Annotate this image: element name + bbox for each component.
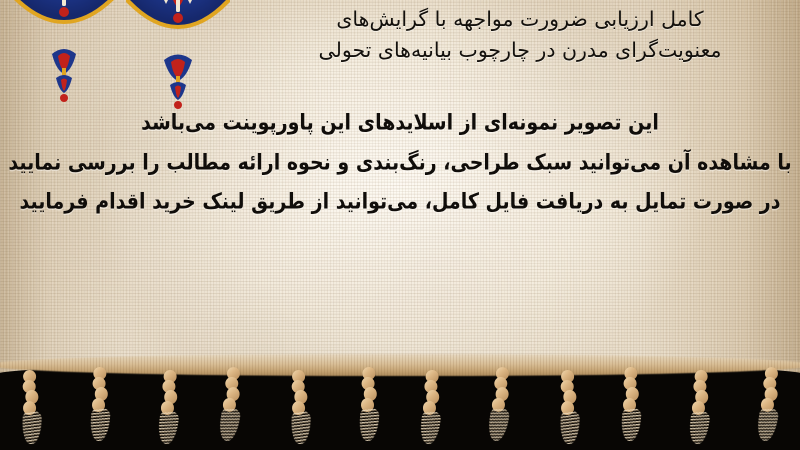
fringe-tassel bbox=[216, 366, 247, 441]
fringe-tassel bbox=[155, 370, 183, 445]
fringe-tassel bbox=[16, 369, 47, 444]
presentation-slide: کامل ارزیابی ضرورت مواجهه با گرایش‌های م… bbox=[0, 0, 800, 450]
carpet-fringe bbox=[0, 350, 800, 450]
fringe-tassel bbox=[285, 369, 316, 444]
fringe-tassel bbox=[86, 367, 114, 442]
fringe-tassel bbox=[355, 367, 383, 442]
body-line-2: با مشاهده آن می‌توانید سبک طراحی، رنگ‌بن… bbox=[0, 141, 800, 186]
fringe-tassel bbox=[485, 366, 516, 441]
title-line-1: کامل ارزیابی ضرورت مواجهه با گرایش‌های bbox=[240, 4, 800, 35]
fringe-tassel bbox=[686, 370, 714, 445]
body-line-3: در صورت تمایل به دریافت فایل کامل، می‌تو… bbox=[0, 180, 800, 225]
fringe-tassel bbox=[753, 366, 784, 441]
slide-body-text: این تصویر نمونه‌ای از اسلایدهای این پاور… bbox=[0, 104, 800, 223]
fringe-tassel bbox=[418, 370, 446, 445]
body-line-1: این تصویر نمونه‌ای از اسلایدهای این پاور… bbox=[0, 101, 800, 146]
fringe-tassel bbox=[618, 367, 646, 442]
fringe-tassel bbox=[553, 369, 584, 444]
title-line-2: معنویت‌گرای مدرن در چارچوب بیانیه‌های تح… bbox=[240, 35, 800, 66]
slide-title: کامل ارزیابی ضرورت مواجهه با گرایش‌های م… bbox=[240, 4, 800, 66]
carpet-selvedge-edge bbox=[0, 354, 800, 376]
